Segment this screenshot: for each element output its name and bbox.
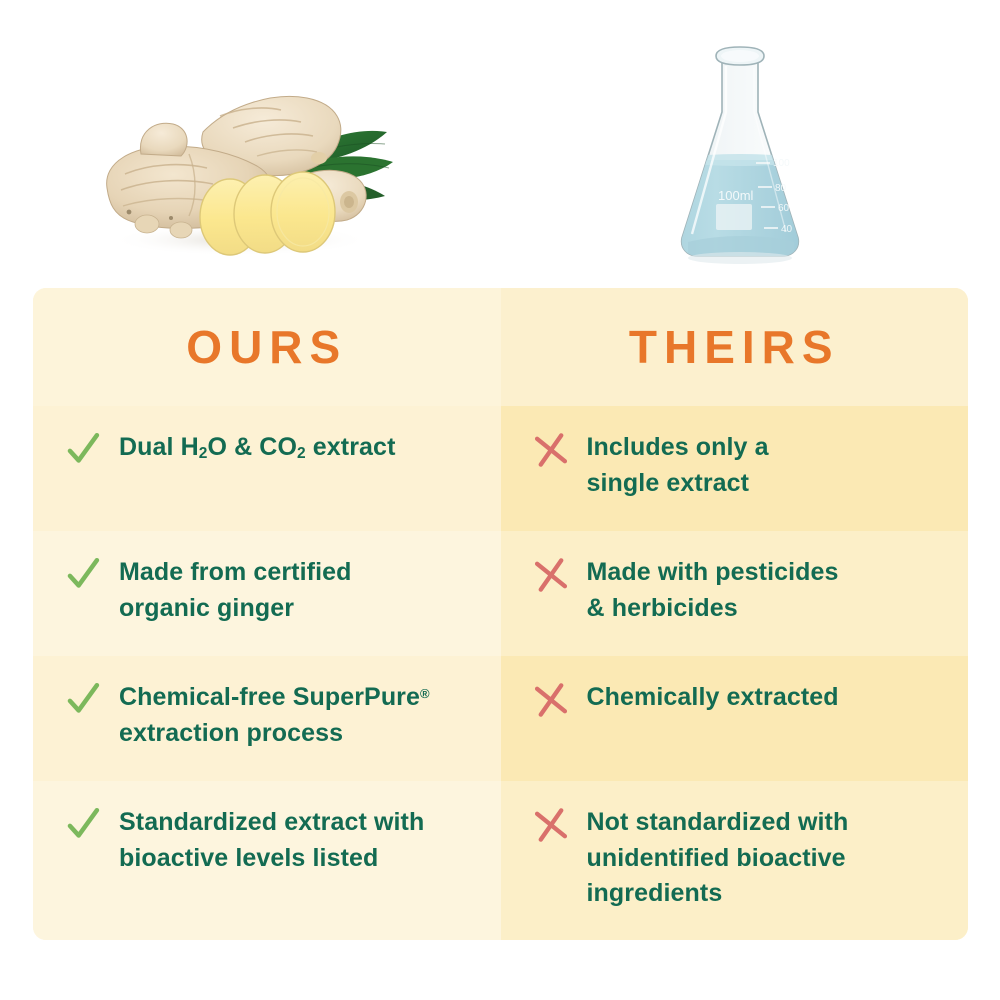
column-title-theirs: THEIRS	[629, 324, 840, 370]
column-header-theirs: THEIRS	[501, 288, 969, 406]
row-text-theirs-3: Chemically extracted	[587, 678, 839, 716]
ginger-slices	[200, 172, 335, 255]
svg-text:80: 80	[775, 183, 787, 194]
cross-icon	[531, 805, 577, 850]
column-header-ours: OURS	[33, 288, 501, 406]
svg-text:40: 40	[781, 224, 793, 235]
row-text-theirs-2: Made with pesticides& herbicides	[587, 553, 839, 626]
row-text-ours-4: Standardized extract withbioactive level…	[119, 803, 424, 876]
table-row: Dual H2O & CO2 extract	[33, 406, 501, 531]
check-icon	[63, 430, 109, 475]
table-row: Made with pesticides& herbicides	[501, 531, 969, 656]
table-row: Includes only asingle extract	[501, 406, 969, 531]
cross-icon	[531, 555, 577, 600]
ginger-root-photo	[85, 62, 405, 277]
check-icon	[63, 555, 109, 600]
column-ours: OURS Dual H2O & CO2 extract Made from ce…	[33, 288, 501, 940]
cross-icon	[531, 680, 577, 725]
row-text-theirs-4: Not standardized withunidentified bioact…	[587, 803, 849, 912]
check-icon	[63, 680, 109, 725]
table-row: Standardized extract withbioactive level…	[33, 781, 501, 940]
row-text-ours-2: Made from certifiedorganic ginger	[119, 553, 352, 626]
check-icon	[63, 805, 109, 850]
cross-icon	[531, 430, 577, 475]
row-text-ours-1: Dual H2O & CO2 extract	[119, 428, 396, 466]
table-row: Chemical-free SuperPure®extraction proce…	[33, 656, 501, 781]
svg-text:100: 100	[773, 158, 790, 169]
column-title-ours: OURS	[186, 324, 347, 370]
table-row: Chemically extracted	[501, 656, 969, 781]
flask-volume-label: 100ml	[718, 188, 754, 203]
row-text-theirs-1: Includes only asingle extract	[587, 428, 769, 501]
column-theirs: THEIRS Includes only asingle extract	[501, 288, 969, 940]
row-text-ours-3: Chemical-free SuperPure®extraction proce…	[119, 678, 430, 751]
table-row: Made from certifiedorganic ginger	[33, 531, 501, 656]
table-row: Not standardized withunidentified bioact…	[501, 781, 969, 940]
comparison-table: OURS Dual H2O & CO2 extract Made from ce…	[33, 288, 968, 940]
hero-imagery: 100 80 60 40 100ml	[0, 0, 1000, 288]
erlenmeyer-flask-photo: 100 80 60 40 100ml	[660, 42, 820, 277]
